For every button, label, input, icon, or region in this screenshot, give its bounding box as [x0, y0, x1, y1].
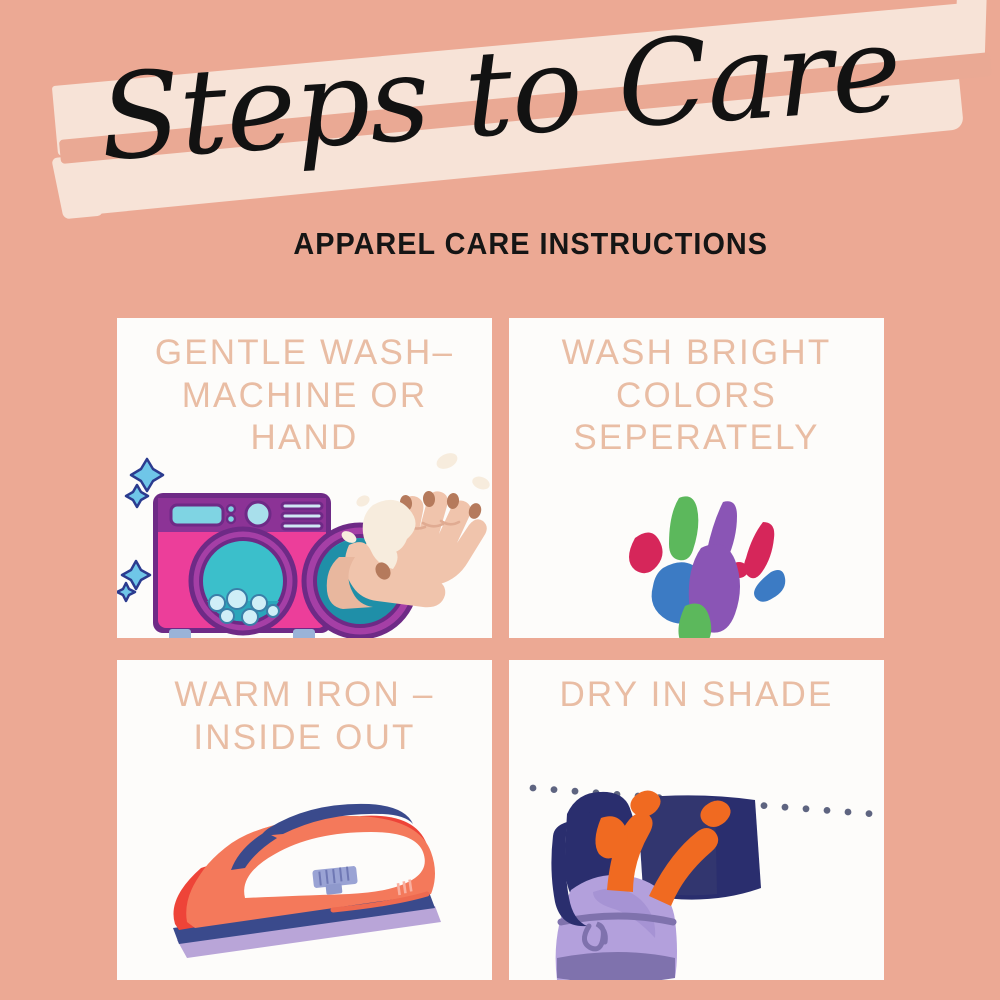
card-gentle-wash-title: GENTLE WASH– MACHINE OR HAND — [131, 332, 478, 460]
card-warm-iron-title: WARM IRON – INSIDE OUT — [131, 674, 478, 759]
care-instruction-grid: GENTLE WASH– MACHINE OR HAND — [117, 318, 884, 980]
washing-machine-and-hands-icon — [117, 453, 492, 638]
card-gentle-wash[interactable]: GENTLE WASH– MACHINE OR HAND — [117, 318, 492, 638]
card-wash-bright-colors[interactable]: WASH BRIGHT COLORS SEPERATELY — [509, 318, 884, 638]
card-warm-iron[interactable]: WARM IRON – INSIDE OUT — [117, 660, 492, 980]
color-splash-hand-icon — [509, 488, 884, 638]
card-dry-in-shade-title: DRY IN SHADE — [523, 674, 870, 717]
card-dry-in-shade[interactable]: DRY IN SHADE — [509, 660, 884, 980]
woman-hanging-laundry-icon — [509, 770, 884, 980]
poster-canvas: Steps to Care APPAREL CARE INSTRUCTIONS … — [0, 0, 1000, 1000]
card-wash-bright-colors-title: WASH BRIGHT COLORS SEPERATELY — [523, 332, 870, 460]
page-subtitle: APPAREL CARE INSTRUCTIONS — [35, 226, 965, 262]
clothes-iron-icon — [117, 770, 492, 980]
page-subtitle-text: APPAREL CARE INSTRUCTIONS — [232, 226, 768, 262]
